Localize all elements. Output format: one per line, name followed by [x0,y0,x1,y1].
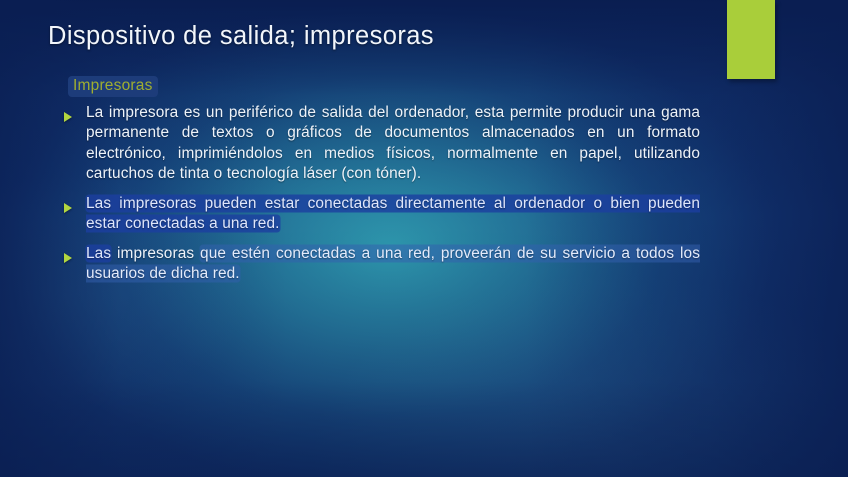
bullet-item-2: Las impresoras pueden estar conectadas d… [64,194,700,235]
bullet-3-text: Las impresoras que estén conectadas a un… [86,244,700,285]
triangle-bullet-icon [64,194,86,218]
bullet-2-segment-1: Las impresoras pueden estar conectadas d… [86,195,700,233]
bullet-item-1: La impresora es un periférico de salida … [64,103,700,185]
subheading-row: Impresoras [68,76,700,97]
green-accent-rectangle [727,0,775,79]
triangle-bullet-icon [64,103,86,127]
bullet-3-segment-1: Las [86,245,111,262]
bullet-1-text: La impresora es un periférico de salida … [86,103,700,185]
presentation-slide: Dispositivo de salida; impresoras Impres… [0,0,848,477]
bullet-1-segment-1: La impresora es un periférico de salida … [86,104,700,183]
bullet-item-3: Las impresoras que estén conectadas a un… [64,244,700,285]
slide-title: Dispositivo de salida; impresoras [48,22,434,51]
subheading-impresoras: Impresoras [68,76,158,97]
slide-body: Impresoras La impresora es un periférico… [64,76,700,294]
bullet-3-segment-2: impresoras [111,245,200,262]
bullet-2-text: Las impresoras pueden estar conectadas d… [86,194,700,235]
triangle-bullet-icon [64,244,86,268]
